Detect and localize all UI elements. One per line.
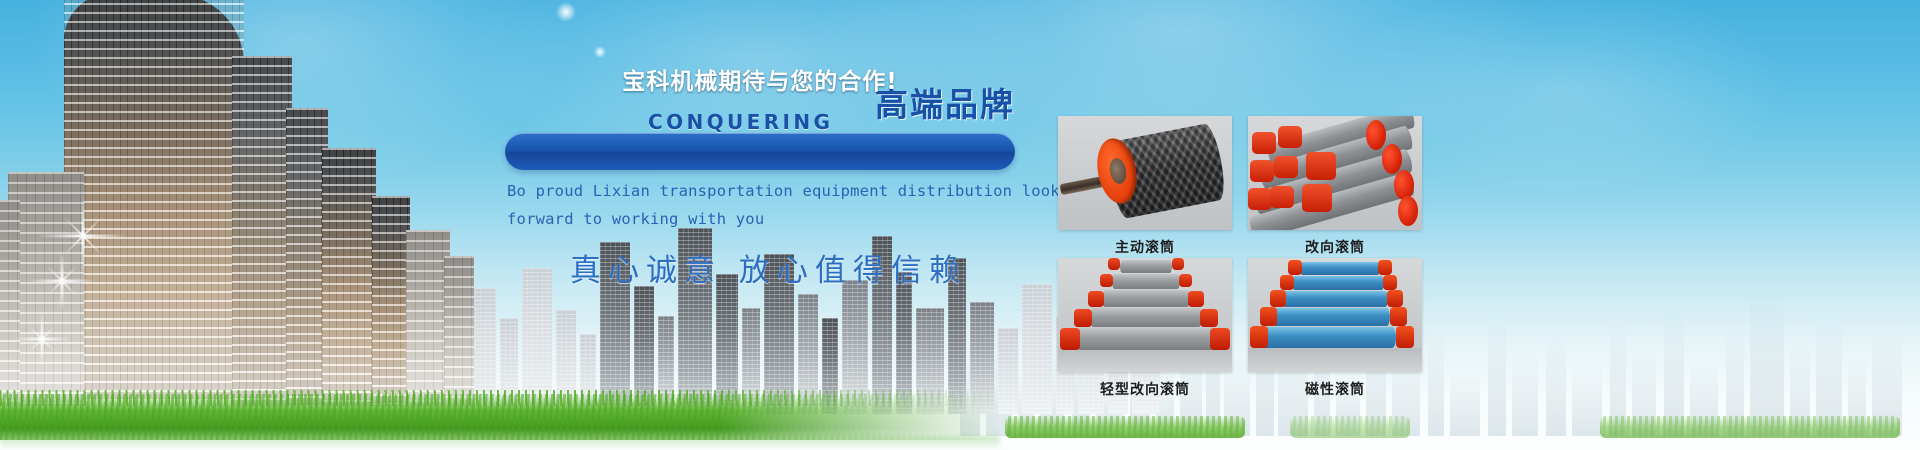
product-caption: 主动滚筒 <box>1058 237 1232 257</box>
grass-patch <box>1005 416 1245 438</box>
headline-pill-text: 宝科机械期待与您的合作! <box>505 60 1015 97</box>
product-caption: 磁性滚筒 <box>1248 379 1422 399</box>
hero-banner: CONQUERING 高端品牌 宝科机械期待与您的合作! Bo proud Li… <box>0 0 1920 450</box>
product-card-drive-pulley[interactable]: 主动滚筒 <box>1058 116 1232 257</box>
product-caption: 改向滚筒 <box>1248 237 1422 257</box>
product-card-light-bend-pulley[interactable]: 轻型改向滚筒 <box>1058 258 1232 399</box>
english-tagline-line-1: Bo proud Lixian transportation equipment… <box>507 182 1060 200</box>
product-image-bend-pulley <box>1248 116 1422 230</box>
lens-flare-icon <box>556 2 576 22</box>
eyebrow-text: CONQUERING <box>648 110 833 134</box>
product-card-magnetic-pulley[interactable]: 磁性滚筒 <box>1248 258 1422 399</box>
grass-strip <box>0 394 1000 440</box>
grass-patch <box>1600 416 1900 438</box>
product-image-light-bend-pulley <box>1058 258 1232 372</box>
product-image-magnetic-pulley <box>1248 258 1422 372</box>
headline-pill <box>505 133 1015 170</box>
english-tagline-line-2: forward to working with you <box>507 210 764 228</box>
product-caption: 轻型改向滚筒 <box>1058 379 1232 399</box>
product-card-bend-pulley[interactable]: 改向滚筒 <box>1248 116 1422 257</box>
product-image-drive-pulley <box>1058 116 1232 230</box>
lens-flare-icon <box>594 46 606 58</box>
grass-patch <box>1290 416 1410 438</box>
slogan-text: 真心诚意 放心值得信赖 <box>570 245 967 290</box>
grass-reflection <box>0 436 1000 450</box>
